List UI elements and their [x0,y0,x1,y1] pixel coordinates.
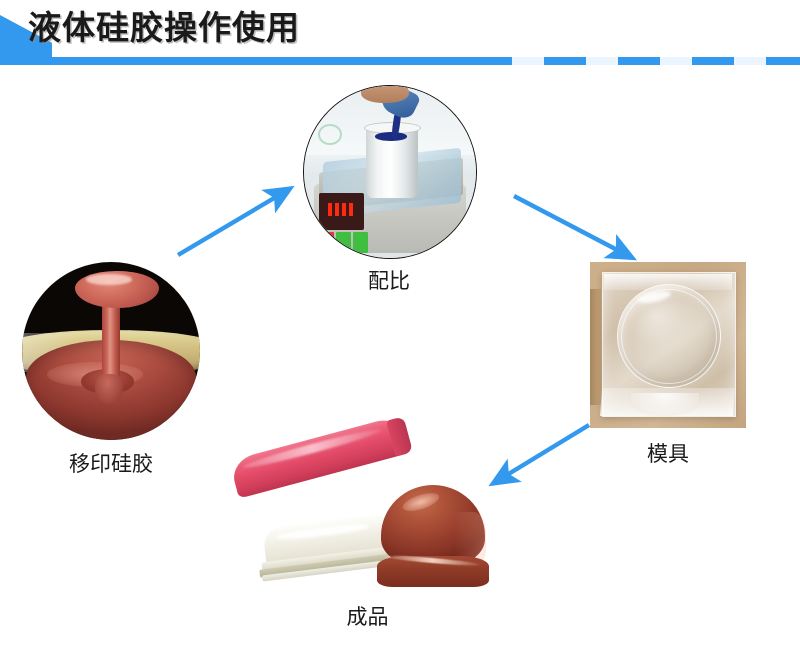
ratio-scale-display [319,193,364,231]
ratio-scale-keypad [319,232,367,253]
ratio-hand [361,85,409,103]
mold-cavity-ring [621,289,717,384]
silicone-stream [102,298,120,383]
flow-node-mold: 模具 [590,262,746,428]
arrow-line-ratio-to-mold [514,196,623,253]
flow-node-products: 成品 [225,425,510,595]
photo-weighing-ratio [303,85,477,259]
ratio-key-green-1 [336,232,351,253]
caption-ratio: 配比 [303,265,475,295]
caption-silicone: 移印硅胶 [22,448,200,478]
caption-mold: 模具 [590,438,746,468]
photo-acrylic-mold [590,262,746,428]
ratio-cup-liquid [375,132,408,141]
mold-cardboard-edge [590,289,601,405]
flow-node-silicone: 移印硅胶 [22,262,200,440]
photo-silicone-pouring [22,262,200,440]
caption-products: 成品 [225,601,510,631]
flow-node-ratio: 配比 [303,85,475,259]
photo-finished-products [225,425,510,595]
arrow-line-silicone-to-ratio [178,194,281,255]
product-brown-dome-pad [377,485,489,587]
ratio-key-red [319,232,334,253]
arrow-line-mold-to-products [502,425,589,478]
ratio-key-green-2 [353,232,368,253]
